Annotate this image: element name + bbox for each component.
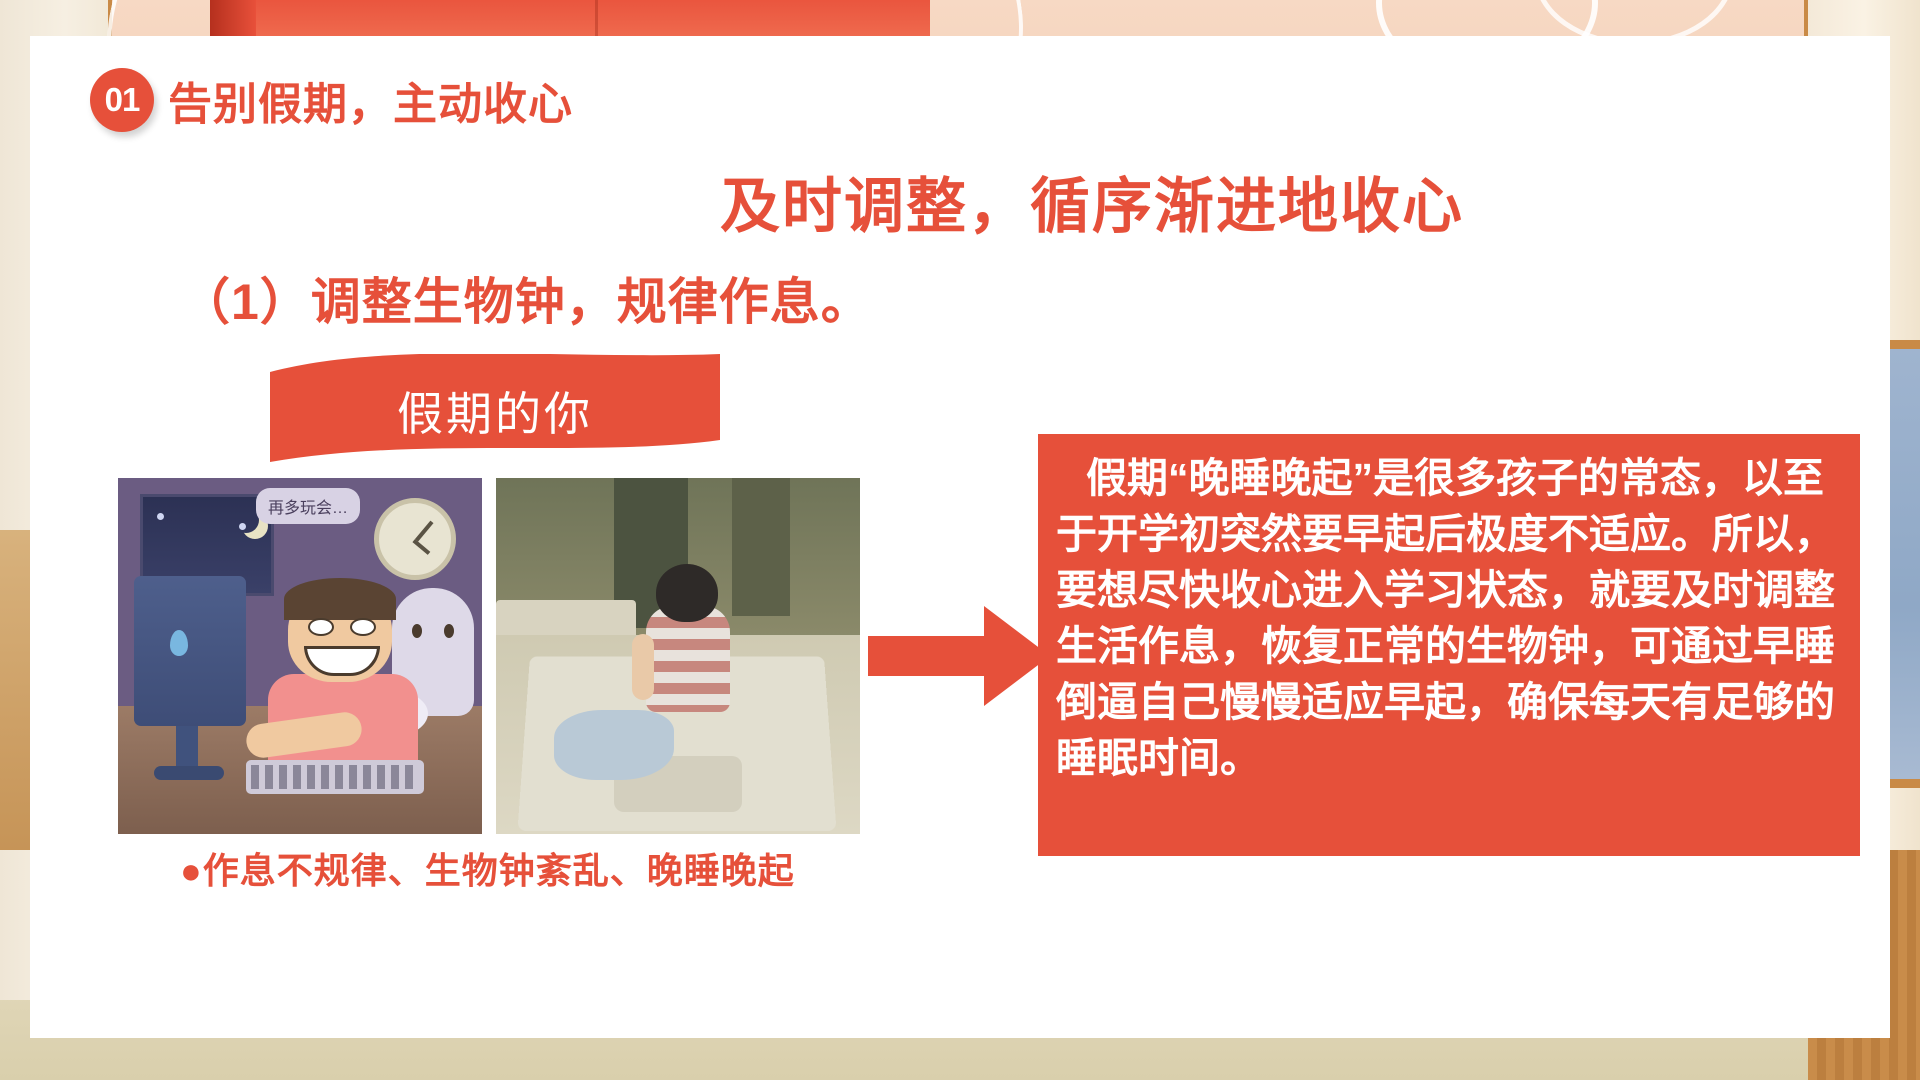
content-card: 01 告别假期，主动收心 及时调整，循序渐进地收心 （1）调整生物钟，规律作息。…: [30, 36, 1890, 1038]
anime-girl-arm: [632, 634, 654, 700]
section-title: 告别假期，主动收心: [168, 68, 573, 132]
callout-box: 假期“晚睡晚起”是很多孩子的常态，以至于开学初突然要早起后极度不适应。所以，要想…: [1038, 434, 1860, 856]
anime-girl-head: [656, 564, 718, 622]
ribbon-label: 假期的你: [270, 378, 720, 444]
page-title: 及时调整，循序渐进地收心: [720, 158, 1464, 245]
cartoon-monitor: [134, 576, 246, 726]
section-number-badge: 01: [90, 68, 154, 132]
cartoon-person-eye-left: [308, 618, 334, 636]
arrow-right-shape-icon: [868, 606, 1050, 706]
photo-anime-girl-on-futon: [496, 478, 860, 834]
photo-cartoon-late-night-gaming: 再多玩会… 没问题: [118, 478, 482, 834]
section-tag: 01 告别假期，主动收心: [90, 68, 573, 132]
anime-clothes-pile: [554, 710, 674, 780]
cartoon-monitor-base: [154, 766, 224, 780]
subheading: （1）调整生物钟，规律作息。: [180, 262, 872, 334]
cartoon-person-eye-right: [350, 618, 376, 636]
cartoon-keyboard: [246, 760, 424, 794]
anime-doorway-right: [732, 478, 790, 616]
callout-text: 假期“晚睡晚起”是很多孩子的常态，以至于开学初突然要早起后极度不适应。所以，要想…: [1056, 450, 1838, 786]
cartoon-clock-icon: [374, 498, 456, 580]
slide-root: 01 告别假期，主动收心 及时调整，循序渐进地收心 （1）调整生物钟，规律作息。…: [0, 0, 1920, 1080]
arrow-right-icon: [868, 606, 1050, 706]
cartoon-person-hair: [284, 578, 396, 620]
cartoon-water-drop-icon: [170, 630, 188, 656]
ribbon-banner: 假期的你: [270, 354, 720, 462]
photo-group: 再多玩会… 没问题: [118, 478, 860, 834]
photo-caption: ●作息不规律、生物钟紊乱、晚睡晚起: [180, 842, 795, 894]
cartoon-monitor-stand: [176, 726, 198, 770]
cartoon-thought-bubble: 再多玩会…: [256, 488, 360, 524]
